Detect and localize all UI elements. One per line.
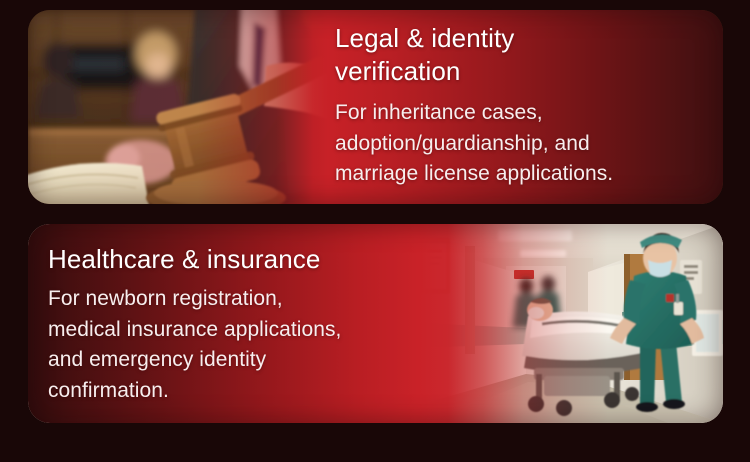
card-legal-heading: Legal & identity verification <box>335 22 703 88</box>
card-health-body: For newborn registration, medical insura… <box>48 284 468 406</box>
card-legal-text-block: Legal & identity verification For inheri… <box>335 22 703 190</box>
cards-stage: Legal & identity verification For inheri… <box>0 0 750 462</box>
card-legal-body: For inheritance cases, adoption/guardian… <box>335 98 703 190</box>
card-health-text-block: Healthcare & insurance For newborn regis… <box>48 243 468 406</box>
card-health-heading: Healthcare & insurance <box>48 243 468 276</box>
card-legal-identity-verification[interactable]: Legal & identity verification For inheri… <box>28 10 723 204</box>
card-healthcare-insurance[interactable]: Healthcare & insurance For newborn regis… <box>28 224 723 423</box>
